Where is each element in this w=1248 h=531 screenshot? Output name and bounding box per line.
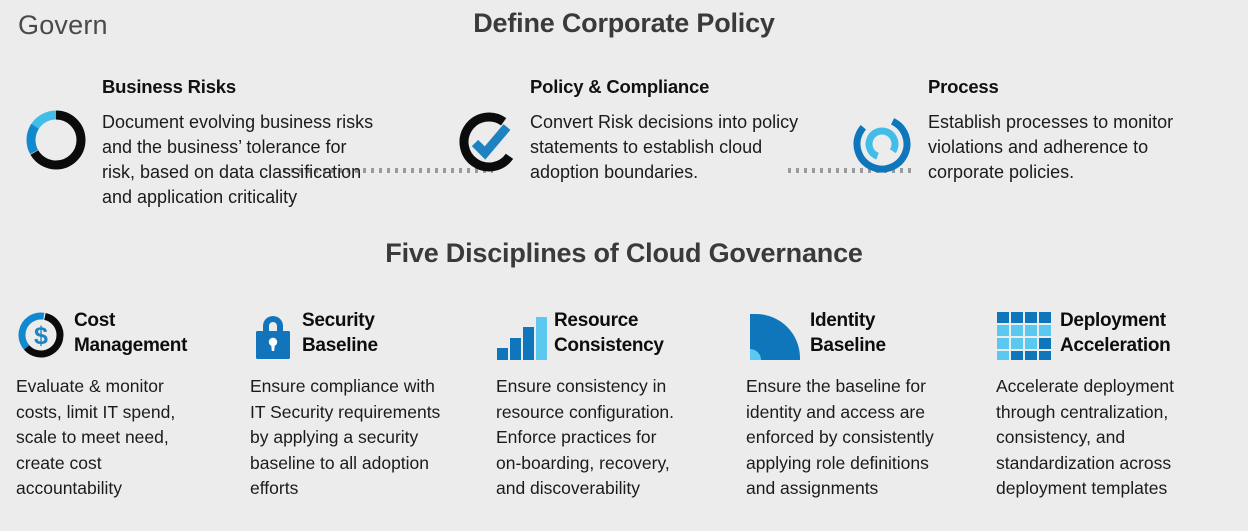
discipline-item-security-baseline[interactable]: Security Baseline Ensure compliance with… [250,308,482,502]
discipline-header: Deployment Acceleration [996,308,1238,368]
svg-text:$: $ [34,322,48,350]
governance-item-description: Convert Risk decisions into policy state… [530,110,850,185]
governance-item-business-risks[interactable]: Business Risks Document evolving busines… [102,78,432,210]
governance-item-description: Establish processes to monitor violation… [928,110,1228,185]
discipline-header: Security Baseline [250,308,482,368]
discipline-description: Evaluate & monitor costs, limit IT spend… [16,368,244,502]
padlock-icon [250,310,296,360]
discipline-description: Accelerate deployment through centraliza… [996,368,1238,502]
discipline-item-cost-management[interactable]: $ Cost Management Evaluate & monitor cos… [16,308,244,502]
quarter-circle-icon [746,310,804,360]
discipline-item-deployment-acceleration[interactable]: Deployment Acceleration Accelerate deplo… [996,308,1238,502]
governance-item-policy-compliance[interactable]: Policy & Compliance Convert Risk decisio… [530,78,850,185]
disciplines-section-title: Five Disciplines of Cloud Governance [0,238,1248,269]
governance-pillars: Business Risks Document evolving busines… [0,78,1248,228]
governance-item-title: Policy & Compliance [530,78,850,98]
discipline-description: Ensure compliance with IT Security requi… [250,368,482,502]
grid-squares-icon [996,310,1054,360]
governance-item-process[interactable]: Process Establish processes to monitor v… [928,78,1228,185]
check-circle-icon [455,108,523,176]
discipline-header: Identity Baseline [746,308,982,368]
discipline-item-resource-consistency[interactable]: Resource Consistency Ensure consistency … [496,308,728,502]
donut-chart-icon [22,106,90,174]
concentric-arcs-icon [848,110,916,178]
discipline-item-identity-baseline[interactable]: Identity Baseline Ensure the baseline fo… [746,308,982,502]
dollar-circle-icon: $ [16,310,68,360]
disciplines-list: $ Cost Management Evaluate & monitor cos… [0,308,1248,531]
discipline-header: Resource Consistency [496,308,728,368]
governance-item-description: Document evolving business risks and the… [102,110,432,210]
governance-item-title: Business Risks [102,78,432,98]
discipline-header: $ Cost Management [16,308,244,368]
page-title: Define Corporate Policy [0,8,1248,39]
bar-chart-icon [496,310,548,360]
governance-item-title: Process [928,78,1228,98]
discipline-description: Ensure the baseline for identity and acc… [746,368,982,502]
discipline-description: Ensure consistency in resource configura… [496,368,728,502]
